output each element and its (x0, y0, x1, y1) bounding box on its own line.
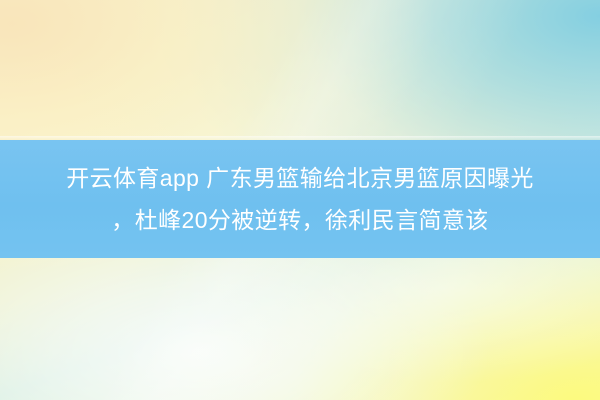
headline-line-1: 开云体育app 广东男篮输给北京男篮原因曝光 (66, 158, 534, 198)
headline-banner: 开云体育app 广东男篮输给北京男篮原因曝光 ，杜峰20分被逆转，徐利民言简意该 (0, 140, 600, 258)
headline-line-2: ，杜峰20分被逆转，徐利民言简意该 (111, 200, 488, 240)
title-card: 开云体育app 广东男篮输给北京男篮原因曝光 ，杜峰20分被逆转，徐利民言简意该 (0, 0, 600, 400)
